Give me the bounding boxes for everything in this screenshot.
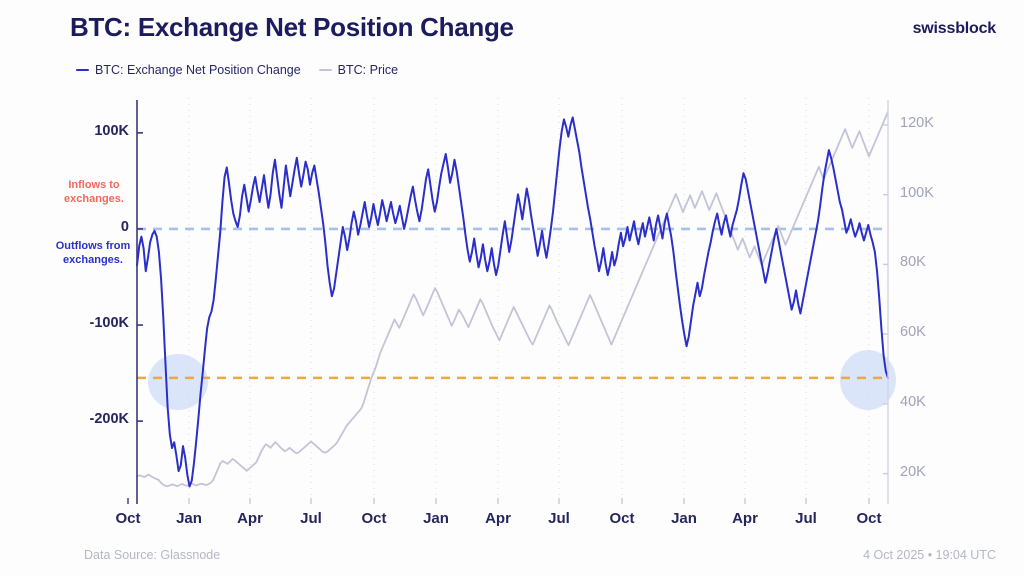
plot-area [0, 0, 1024, 576]
right-axis-tick-label: 40K [900, 394, 926, 410]
left-axis-tick-label: -100K [0, 315, 129, 331]
annotation-outflows-line2: exchanges. [50, 254, 136, 268]
footer-timestamp: 4 Oct 2025 • 19:04 UTC [863, 548, 996, 562]
annotation-inflows-line2: exchanges. [58, 193, 130, 207]
right-axis-tick-label: 120K [900, 115, 934, 131]
annotation-inflows: Inflows to exchanges. [58, 179, 130, 207]
left-axis-tick-label: 100K [0, 123, 129, 139]
chart-root: BTC: Exchange Net Position Change swissb… [0, 0, 1024, 576]
left-axis-tick-label: 0 [0, 219, 129, 235]
annotation-outflows: Outflows from exchanges. [50, 240, 136, 268]
right-axis-tick-label: 20K [900, 464, 926, 480]
chart-canvas [0, 0, 1024, 576]
footer-data-source: Data Source: Glassnode [84, 548, 220, 562]
x-axis-tick-label: Oct [829, 510, 909, 527]
right-axis-tick-label: 100K [900, 185, 934, 201]
right-axis-tick-label: 80K [900, 254, 926, 270]
right-axis-tick-label: 60K [900, 324, 926, 340]
annotation-outflows-line1: Outflows from [50, 240, 136, 254]
annotation-inflows-line1: Inflows to [58, 179, 130, 193]
left-axis-tick-label: -200K [0, 411, 129, 427]
